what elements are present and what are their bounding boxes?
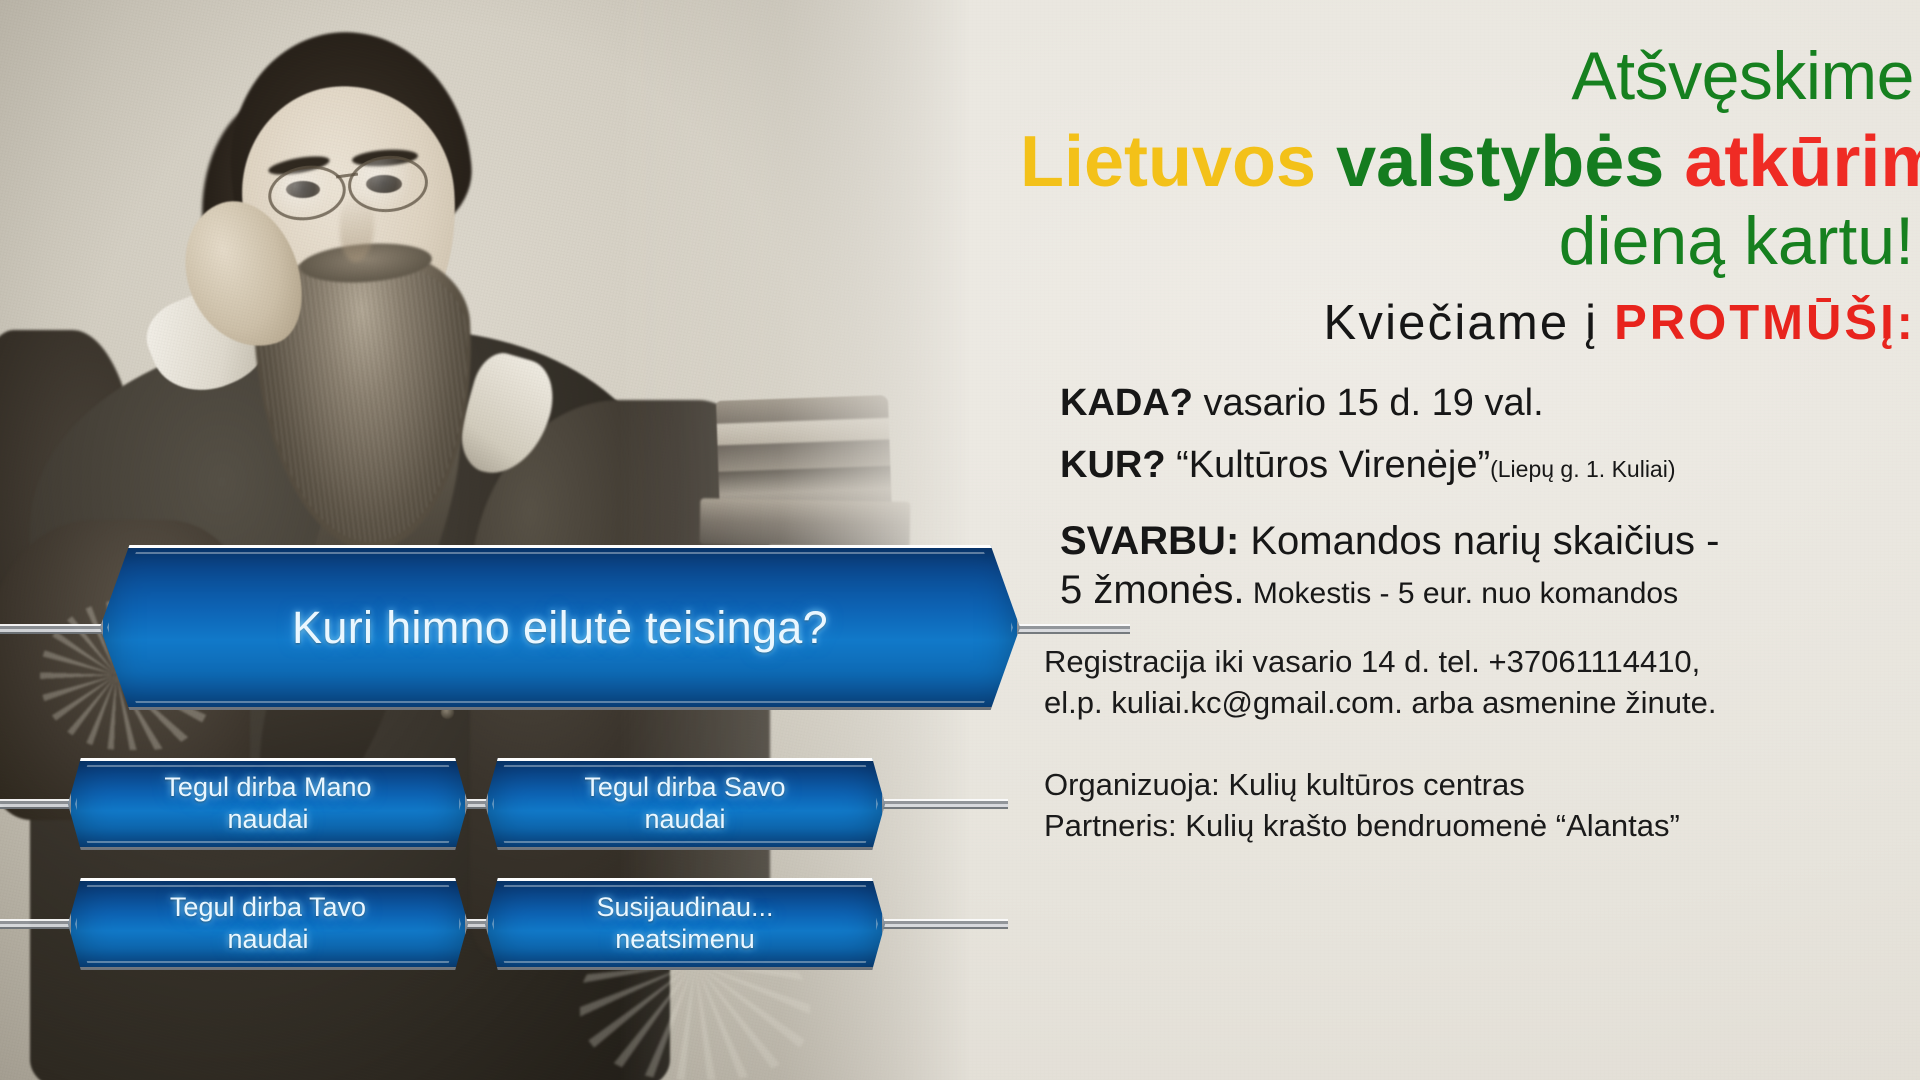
detail-fee: Mokestis - 5 eur. nuo komandos bbox=[1245, 577, 1679, 610]
quiz-answer-b-line2: naudai bbox=[644, 804, 725, 834]
detail-important-label: SVARBU: bbox=[1060, 519, 1239, 563]
registration-line-1: Registracija iki vasario 14 d. tel. +370… bbox=[1044, 641, 1920, 683]
invite-emphasis: PROTMŪŠĮ: bbox=[1614, 296, 1916, 350]
headline-line-2: Lietuvos valstybės atkūrimo bbox=[1020, 124, 1914, 200]
detail-when-label: KADA? bbox=[1060, 382, 1193, 424]
connector-answer-a-left bbox=[0, 799, 74, 809]
headline-line-3: dieną kartu! bbox=[1020, 206, 1914, 277]
organizers-block: Organizuoja: Kulių kultūros centras Part… bbox=[1020, 764, 1920, 847]
quiz-answer-a[interactable]: Tegul dirba Mano naudai bbox=[68, 758, 468, 850]
poster-canvas: Kuri himno eilutė teisinga? Tegul dirba … bbox=[0, 0, 1920, 1080]
connector-question-left bbox=[0, 624, 106, 634]
detail-where: KUR? “Kultūros Virenėje”(Liepų g. 1. Kul… bbox=[1060, 443, 1920, 487]
quiz-answer-d-text: Susijaudinau... neatsimenu bbox=[570, 892, 799, 956]
connector-answer-d-right bbox=[878, 919, 1008, 929]
detail-where-label: KUR? bbox=[1060, 444, 1166, 486]
registration-block: Registracija iki vasario 14 d. tel. +370… bbox=[1020, 641, 1920, 724]
quiz-question-banner: Kuri himno eilutė teisinga? bbox=[100, 545, 1020, 710]
quiz-answer-c[interactable]: Tegul dirba Tavo naudai bbox=[68, 878, 468, 970]
headline-line-1: Atšvęskime bbox=[1020, 42, 1914, 110]
quiz-answer-c-line1: Tegul dirba Tavo bbox=[170, 892, 366, 922]
details-block: KADA? vasario 15 d. 19 val. KUR? “Kultūr… bbox=[1020, 381, 1920, 615]
connector-answer-b-right bbox=[878, 799, 1008, 809]
headline-word-atkurimo: atkūrimo bbox=[1684, 122, 1920, 202]
detail-where-address: (Liepų g. 1. Kuliai) bbox=[1490, 456, 1675, 482]
quiz-answer-b[interactable]: Tegul dirba Savo naudai bbox=[485, 758, 885, 850]
invite-prefix: Kviečiame į bbox=[1324, 296, 1615, 350]
quiz-question-text: Kuri himno eilutė teisinga? bbox=[266, 601, 854, 654]
quiz-answer-c-line2: naudai bbox=[227, 924, 308, 954]
quiz-answer-a-line2: naudai bbox=[227, 804, 308, 834]
connector-answer-c-left bbox=[0, 919, 74, 929]
detail-when: KADA? vasario 15 d. 19 val. bbox=[1060, 381, 1920, 425]
quiz-answer-c-text: Tegul dirba Tavo naudai bbox=[144, 892, 392, 956]
quiz-answer-a-text: Tegul dirba Mano naudai bbox=[138, 772, 397, 836]
registration-line-2: el.p. kuliai.kc@gmail.com. arba asmenine… bbox=[1044, 682, 1920, 724]
quiz-answer-d-line1: Susijaudinau... bbox=[596, 892, 773, 922]
quiz-answer-d-line2: neatsimenu bbox=[615, 924, 755, 954]
organizer-line: Organizuoja: Kulių kultūros centras bbox=[1044, 764, 1920, 806]
quiz-answer-d[interactable]: Susijaudinau... neatsimenu bbox=[485, 878, 885, 970]
quiz-answer-b-text: Tegul dirba Savo naudai bbox=[558, 772, 811, 836]
headline-word-valstybes: valstybės bbox=[1336, 122, 1664, 202]
headline-block: Atšvęskime Lietuvos valstybės atkūrimo d… bbox=[1020, 42, 1920, 277]
invite-line: Kviečiame į PROTMŪŠĮ: bbox=[1020, 295, 1920, 351]
quiz-answer-a-line1: Tegul dirba Mano bbox=[164, 772, 371, 802]
quiz-graphic: Kuri himno eilutė teisinga? Tegul dirba … bbox=[0, 0, 1120, 1080]
detail-when-value: vasario 15 d. 19 val. bbox=[1193, 382, 1544, 424]
detail-important-value: Komandos narių skaičius - bbox=[1239, 519, 1719, 563]
detail-important-value-line2: 5 žmonės. bbox=[1060, 568, 1245, 612]
detail-important: SVARBU: Komandos narių skaičius - 5 žmon… bbox=[1060, 517, 1920, 615]
content-column: Atšvęskime Lietuvos valstybės atkūrimo d… bbox=[1020, 0, 1920, 1080]
headline-word-lietuvos: Lietuvos bbox=[1020, 122, 1316, 202]
partner-line: Partneris: Kulių krašto bendruomenė “Ala… bbox=[1044, 805, 1920, 847]
detail-where-value: “Kultūros Virenėje” bbox=[1166, 444, 1491, 486]
quiz-answer-b-line1: Tegul dirba Savo bbox=[584, 772, 785, 802]
